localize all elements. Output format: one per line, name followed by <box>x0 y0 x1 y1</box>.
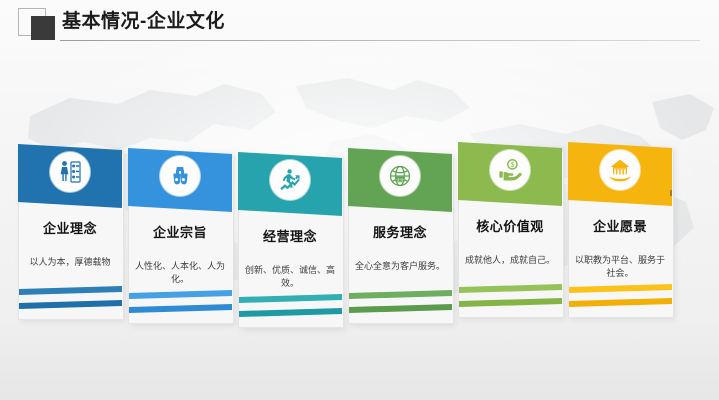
card-header-band: 企业 <box>348 148 452 212</box>
card-title: 企业宗旨 <box>132 224 228 241</box>
slide-canvas: 基本情况-企业文化 <box>0 0 719 400</box>
house-building-icon <box>600 150 640 190</box>
card-description: 以职教为平台、服务于社会。 <box>573 254 667 280</box>
card-header-band <box>568 142 672 206</box>
slide-header: 基本情况-企业文化 <box>0 0 719 50</box>
culture-card[interactable]: 企业 服务理念 全心全意为客户服务。 <box>348 148 456 323</box>
header-divider <box>60 40 700 41</box>
card-description: 成就他人，成就自己。 <box>463 254 557 267</box>
card-title: 经营理念 <box>242 228 338 245</box>
globe-icon: 企业 <box>380 156 420 196</box>
culture-card[interactable]: $ 核心价值观 成就他人，成就自己。 <box>458 142 566 317</box>
card-description: 全心全意为客户服务。 <box>353 260 447 273</box>
card-title: 服务理念 <box>352 224 448 241</box>
card-description: 以人为本，厚德载物 <box>23 256 117 269</box>
page-title: 基本情况-企业文化 <box>62 6 225 33</box>
culture-card[interactable]: 企业宗旨 人性化、人本化、人为化。 <box>128 148 236 323</box>
culture-card-row: 企业理念 以人为本，厚德载物 <box>0 118 719 328</box>
card-description: 人性化、人本化、人为化。 <box>133 260 227 286</box>
card-header-band: $ <box>458 142 562 206</box>
card-description: 创新、优质、诚信、高效。 <box>243 264 337 290</box>
person-presentation-icon <box>50 152 90 192</box>
card-title: 核心价值观 <box>462 218 558 235</box>
header-solid-square-icon <box>31 16 55 40</box>
svg-text:$: $ <box>510 162 514 169</box>
binoculars-icon <box>160 156 200 196</box>
background-bottom-fade <box>0 320 719 400</box>
hand-money-icon: $ <box>490 150 530 190</box>
card-header-band <box>238 152 342 216</box>
card-header-band <box>128 148 232 212</box>
svg-text:企业: 企业 <box>396 177 404 182</box>
card-header-band <box>18 144 122 208</box>
culture-card[interactable]: 经营理念 创新、优质、诚信、高效。 <box>238 152 346 327</box>
culture-card[interactable]: 企业理念 以人为本，厚德载物 <box>18 144 126 319</box>
running-person-arrow-icon <box>270 160 310 200</box>
culture-card[interactable]: 企业愿景 以职教为平台、服务于社会。 <box>568 142 676 317</box>
card-title: 企业理念 <box>22 220 118 237</box>
card-title: 企业愿景 <box>572 218 668 235</box>
